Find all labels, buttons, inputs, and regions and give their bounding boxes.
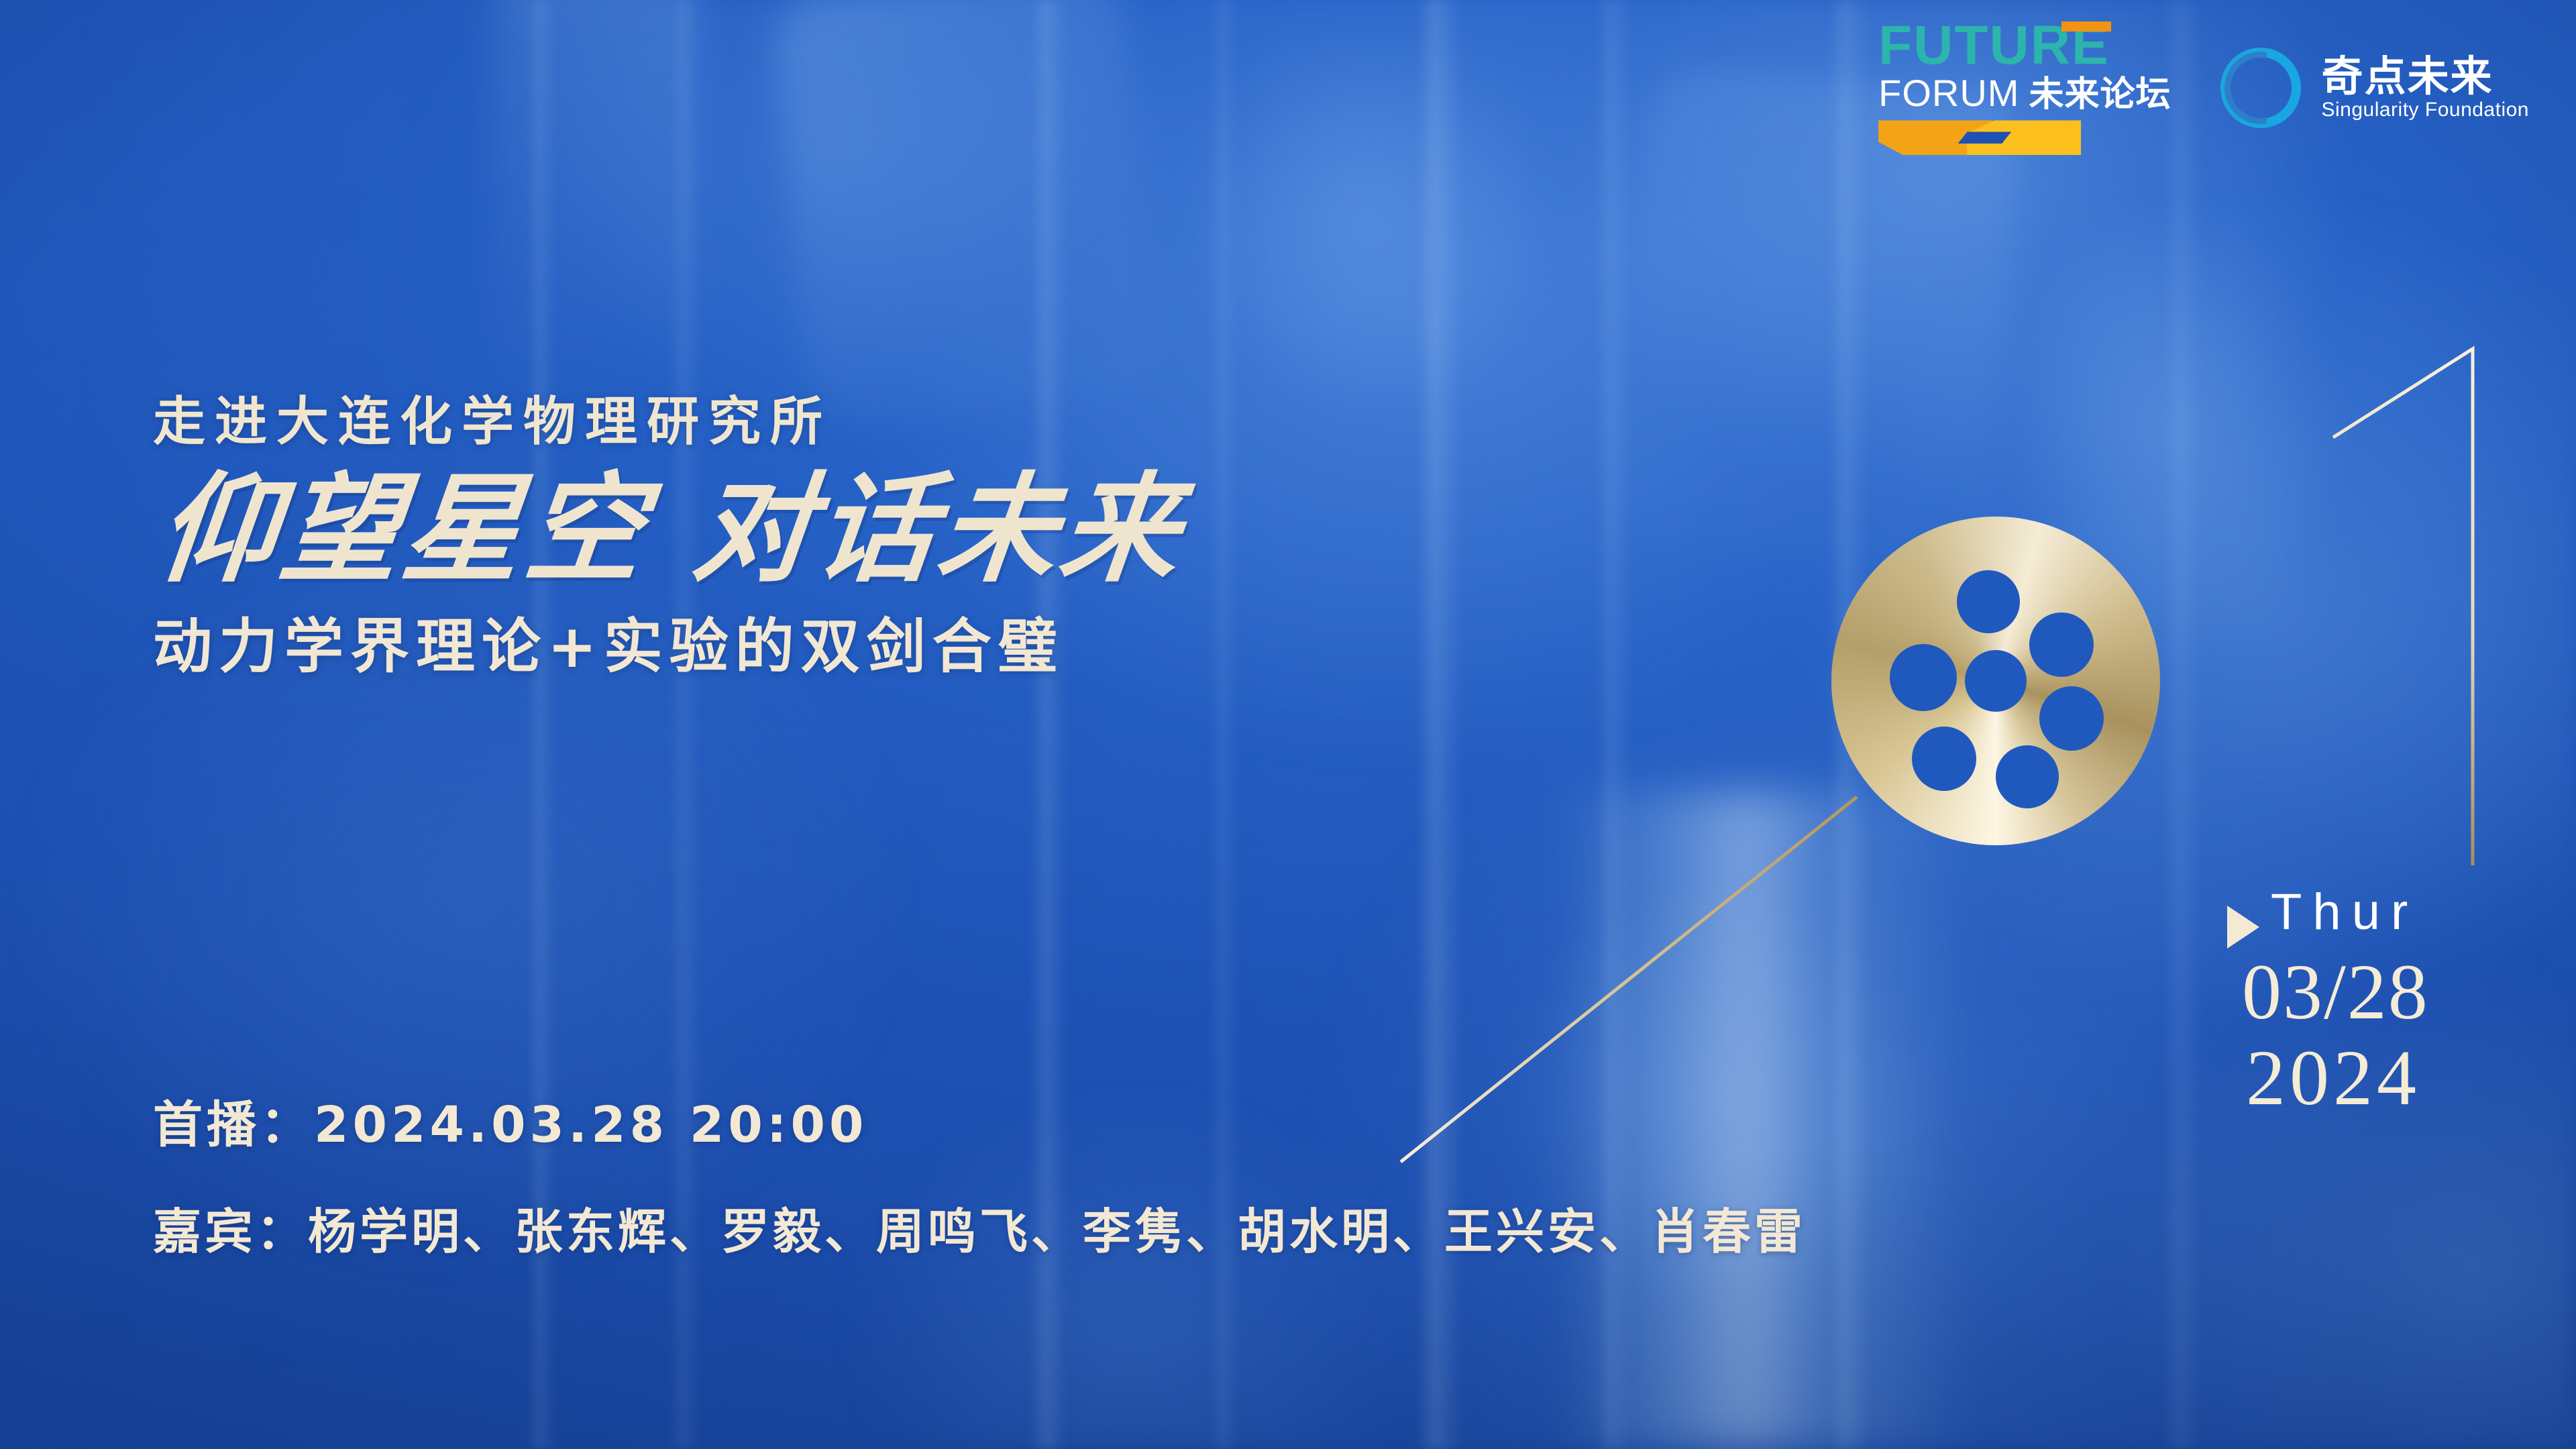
main-title: 仰望星空对话未来 <box>153 471 1189 589</box>
footer-info: 首播：2024.03.28 20:00 嘉宾：杨学明、张东辉、罗毅、周鸣飞、李隽… <box>153 1100 1806 1256</box>
disc-hole <box>1965 650 2027 712</box>
main-title-part1: 仰望星空 <box>152 461 655 598</box>
disc-hole <box>1890 644 1957 711</box>
forum-label: FORUM <box>1878 74 2019 112</box>
eyebrow-text: 走进大连化学物理研究所 <box>153 396 1177 448</box>
disc-hole <box>2029 612 2094 677</box>
disc-hole <box>1912 727 1976 791</box>
gold-disc-emblem <box>1831 517 2160 845</box>
date-block: Thur 03/28 2024 <box>2160 335 2576 872</box>
date-month-day: 03/28 <box>2242 953 2429 1032</box>
date-year: 2024 <box>2246 1038 2420 1118</box>
main-title-part2: 对话未来 <box>688 461 1191 598</box>
date-frame-decoration <box>2160 335 2576 872</box>
subtitle-text: 动力学界理论+实验的双剑合璧 <box>153 617 1177 676</box>
future-forum-logo[interactable]: FUTURE FORUM 未来论坛 <box>1878 20 2171 155</box>
disc-hole <box>1996 745 2059 808</box>
disc-hole <box>2039 686 2104 751</box>
logo-bar: FUTURE FORUM 未来论坛 奇点未来 Singularity Found… <box>1878 20 2529 155</box>
premiere-line: 首播：2024.03.28 20:00 <box>153 1100 1806 1150</box>
play-triangle-icon <box>2227 906 2259 949</box>
date-weekday: Thur <box>2271 887 2418 938</box>
guests-line: 嘉宾：杨学明、张东辉、罗毅、周鸣飞、李隽、胡水明、王兴安、肖春雷 <box>153 1207 1806 1256</box>
guests-label: 嘉宾： <box>153 1203 308 1260</box>
bolt-shape <box>770 0 1162 426</box>
ring-icon <box>2220 48 2301 128</box>
poster-canvas: FUTURE FORUM 未来论坛 奇点未来 Singularity Found… <box>0 0 2576 1449</box>
future-forum-chevron-bar <box>1878 120 2081 155</box>
singularity-name-en: Singularity Foundation <box>2321 100 2529 120</box>
singularity-wordmark: 奇点未来 Singularity Foundation <box>2321 56 2529 120</box>
future-wordmark: FUTURE <box>1878 20 2110 70</box>
future-forum-subrow: FORUM 未来论坛 <box>1878 74 2171 112</box>
premiere-value: 2024.03.28 20:00 <box>314 1096 867 1154</box>
forum-label-cn: 未来论坛 <box>2029 77 2171 112</box>
singularity-foundation-logo[interactable]: 奇点未来 Singularity Foundation <box>2220 48 2529 128</box>
headline-block: 走进大连化学物理研究所 仰望星空对话未来 动力学界理论+实验的双剑合璧 <box>153 396 1177 676</box>
singularity-name-cn: 奇点未来 <box>2321 56 2529 97</box>
future-orange-accent <box>2061 21 2111 32</box>
guests-value: 杨学明、张东辉、罗毅、周鸣飞、李隽、胡水明、王兴安、肖春雷 <box>308 1203 1806 1260</box>
premiere-label: 首播： <box>153 1096 314 1154</box>
disc-hole <box>1957 570 2020 633</box>
bolt-shape <box>1194 40 1623 523</box>
